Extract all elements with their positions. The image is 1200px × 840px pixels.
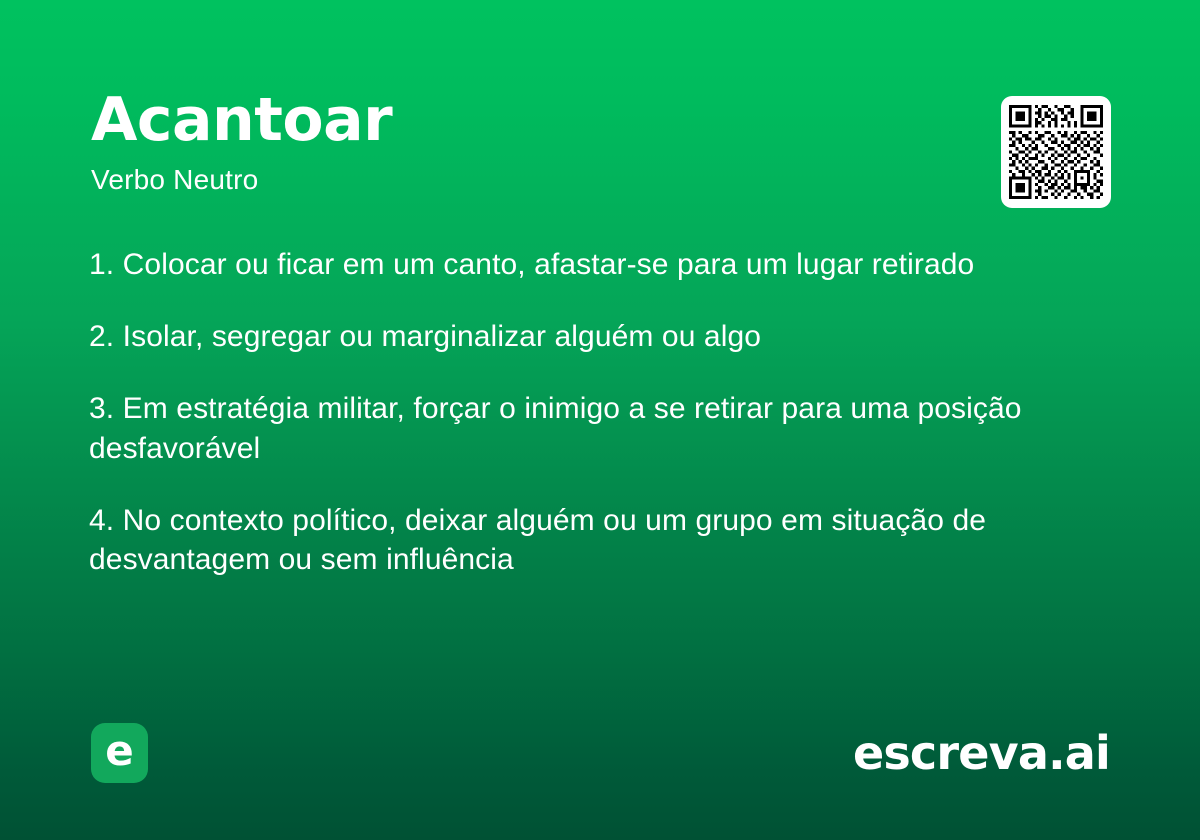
definition-list: 1. Colocar ou ficar em um canto, afastar… bbox=[89, 245, 1099, 580]
brand-logo-letter: e bbox=[105, 730, 134, 772]
brand-wordmark: escreva.ai bbox=[853, 730, 1110, 776]
brand-logo-icon: e bbox=[91, 723, 148, 783]
dictionary-card: Acantoar Verbo Neutro bbox=[0, 0, 1200, 840]
word-class-label: Verbo Neutro bbox=[91, 165, 1110, 196]
qr-code-panel[interactable] bbox=[1001, 96, 1111, 208]
page-title: Acantoar bbox=[91, 88, 1110, 153]
list-item: 2. Isolar, segregar ou marginalizar algu… bbox=[89, 317, 1099, 357]
card-header: Acantoar Verbo Neutro bbox=[91, 88, 1110, 196]
list-item: 3. Em estratégia militar, forçar o inimi… bbox=[89, 389, 1099, 469]
card-footer: e escreva.ai bbox=[91, 722, 1110, 784]
list-item: 4. No contexto político, deixar alguém o… bbox=[89, 501, 1099, 581]
qr-code-icon bbox=[1009, 105, 1103, 199]
list-item: 1. Colocar ou ficar em um canto, afastar… bbox=[89, 245, 1099, 285]
